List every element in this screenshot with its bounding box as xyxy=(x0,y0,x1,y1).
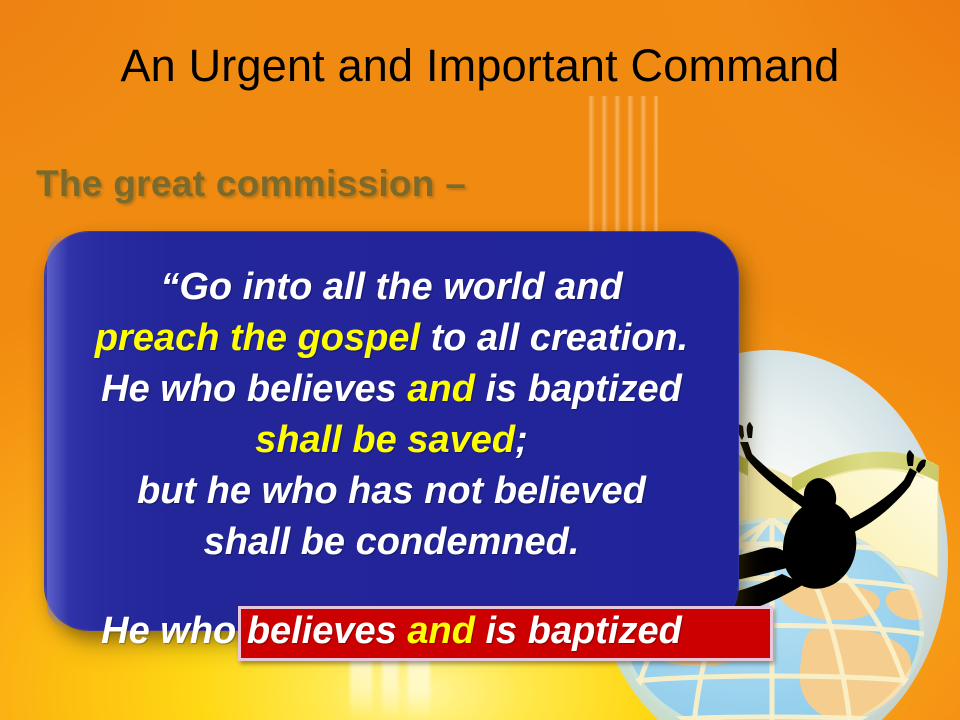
quote-line-3-part-c: is baptized xyxy=(486,368,682,410)
quote-line-4-highlight: shall be saved xyxy=(255,419,515,461)
quote-line-4: shall be saved; xyxy=(45,415,738,466)
quote-line-2-rest: to all creation. xyxy=(420,317,688,359)
quote-line-3-highlight: and xyxy=(407,368,485,410)
light-ray-band-vertical-thin xyxy=(588,96,658,236)
quote-card: “Go into all the world and preach the go… xyxy=(45,232,738,630)
slide-title: An Urgent and Important Command xyxy=(0,40,960,92)
quote-line-2-highlight: preach the gospel xyxy=(95,317,420,359)
quote-line-5: but he who has not believed xyxy=(45,466,738,517)
quote-line-3: He who believes and is baptized xyxy=(45,364,738,415)
quote-line-6: shall be condemned. xyxy=(45,517,738,568)
quote-line-3-part-b: believes xyxy=(247,368,408,410)
quote-line-2: preach the gospel to all creation. xyxy=(45,313,738,364)
slide-subtitle: The great commission – xyxy=(36,163,466,205)
presentation-slide: An Urgent and Important Command The grea… xyxy=(0,0,960,720)
quote-line-4-rest: ; xyxy=(515,419,528,461)
quote-line-3-part-a: He who xyxy=(101,368,247,410)
red-emphasis-box xyxy=(238,606,773,661)
quote-line-1: “Go into all the world and xyxy=(45,262,738,313)
quote-text: “Go into all the world and preach the go… xyxy=(45,262,738,568)
